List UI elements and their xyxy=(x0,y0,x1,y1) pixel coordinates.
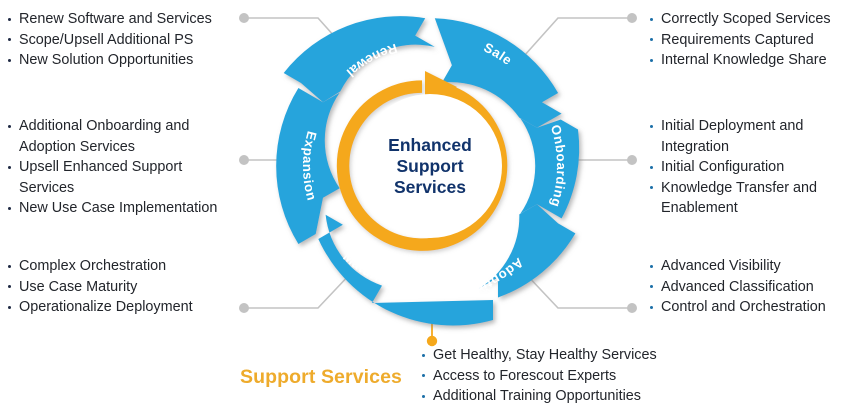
list-item: Operationalize Deployment xyxy=(6,297,246,318)
cycle-wheel: Sale Onboarding Adoption Maturing Expans… xyxy=(265,0,595,336)
support-services-label: Support Services xyxy=(240,366,420,389)
list-item: Scope/Upsell Additional PS xyxy=(6,30,246,51)
callout-bottom: Get Healthy, Stay Healthy Services Acces… xyxy=(420,345,710,407)
callout-bottom-left: Complex Orchestration Use Case Maturity … xyxy=(6,256,246,318)
list-item: Additional Onboarding and Adoption Servi… xyxy=(6,116,246,157)
callout-bottom-list: Get Healthy, Stay Healthy Services Acces… xyxy=(420,345,710,407)
list-item: New Use Case Implementation xyxy=(6,198,246,219)
list-item: Use Case Maturity xyxy=(6,277,246,298)
list-item: Get Healthy, Stay Healthy Services xyxy=(420,345,710,366)
callout-top-left: Renew Software and Services Scope/Upsell… xyxy=(6,9,246,71)
list-item: Knowledge Transfer and Enablement xyxy=(648,178,850,219)
callout-middle-right: Initial Deployment and Integration Initi… xyxy=(648,116,850,219)
callout-top-right-list: Correctly Scoped Services Requirements C… xyxy=(648,9,850,71)
center-disc xyxy=(358,94,502,238)
callout-middle-left-list: Additional Onboarding and Adoption Servi… xyxy=(6,116,246,219)
list-item: Complex Orchestration xyxy=(6,256,246,277)
list-item: Upsell Enhanced Support Services xyxy=(6,157,246,198)
list-item: Advanced Visibility xyxy=(648,256,850,277)
connector-dot-bottom-right xyxy=(627,303,637,313)
connector-dot-middle-right xyxy=(627,155,637,165)
list-item: Access to Forescout Experts xyxy=(420,366,710,387)
list-item: Advanced Classification xyxy=(648,277,850,298)
connector-dot-top-right xyxy=(627,13,637,23)
callout-top-right: Correctly Scoped Services Requirements C… xyxy=(648,9,850,71)
list-item: Initial Configuration xyxy=(648,157,850,178)
list-item: Requirements Captured xyxy=(648,30,850,51)
diagram-canvas: Sale Onboarding Adoption Maturing Expans… xyxy=(0,0,850,420)
list-item: New Solution Opportunities xyxy=(6,50,246,71)
callout-bottom-right: Advanced Visibility Advanced Classificat… xyxy=(648,256,850,318)
list-item: Control and Orchestration xyxy=(648,297,850,318)
callout-middle-left: Additional Onboarding and Adoption Servi… xyxy=(6,116,246,219)
callout-middle-right-list: Initial Deployment and Integration Initi… xyxy=(648,116,850,219)
callout-top-left-list: Renew Software and Services Scope/Upsell… xyxy=(6,9,246,71)
list-item: Additional Training Opportunities xyxy=(420,386,710,407)
callout-bottom-left-list: Complex Orchestration Use Case Maturity … xyxy=(6,256,246,318)
list-item: Initial Deployment and Integration xyxy=(648,116,850,157)
callout-bottom-right-list: Advanced Visibility Advanced Classificat… xyxy=(648,256,850,318)
list-item: Internal Knowledge Share xyxy=(648,50,850,71)
list-item: Correctly Scoped Services xyxy=(648,9,850,30)
list-item: Renew Software and Services xyxy=(6,9,246,30)
